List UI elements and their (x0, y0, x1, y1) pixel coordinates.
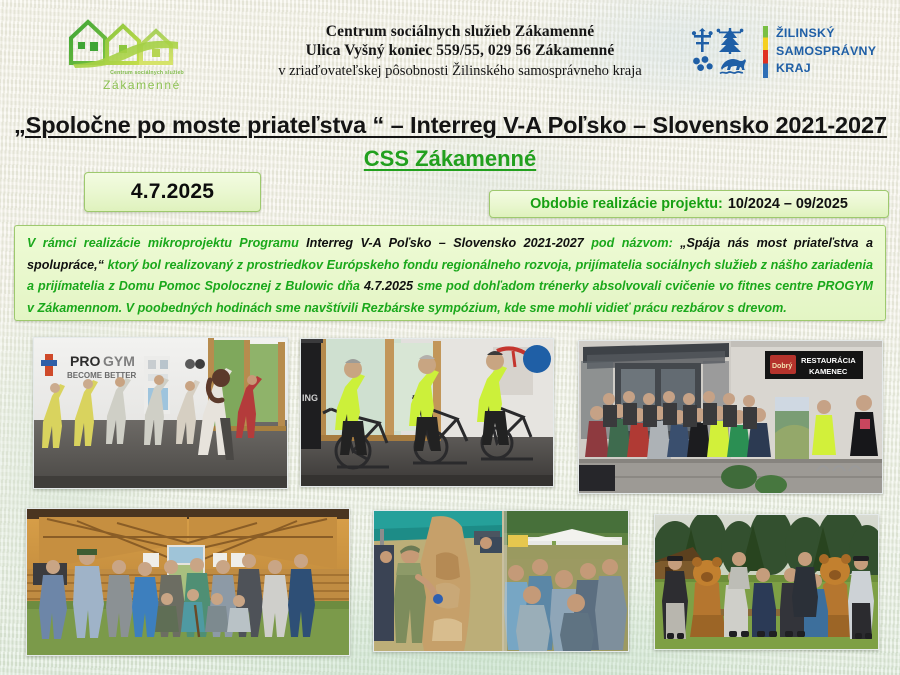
project-period-label: Obdobie realizácie projektu: (530, 196, 723, 212)
organisation-address: Centrum sociálnych služieb Zákamenné Uli… (250, 22, 670, 81)
photo-group-bear-sculptures (654, 514, 879, 650)
desc-event-date: 4.7.2025 (364, 279, 413, 293)
svg-text:RESTAURÁCIA: RESTAURÁCIA (801, 356, 856, 365)
photo-gym-group-exercise-image: PRO GYM BECOME BETTER (34, 338, 287, 488)
photo-exercise-bikes: ING (300, 338, 554, 487)
photo-group-bear-sculptures-image (655, 515, 878, 649)
logo-caption-large: Zákamenné (96, 78, 188, 92)
css-zakamenne-logo: Centrum sociálnych služieb Zákamenné (66, 18, 188, 96)
project-description-panel: V rámci realizácie mikroprojektu Program… (14, 225, 886, 321)
zsk-wordmark: ŽILINSKÝ SAMOSPRÁVNY KRAJ (776, 25, 876, 78)
photo-woodcarver-at-work (373, 510, 629, 652)
org-name: Centrum sociálnych služieb Zákamenné (250, 22, 670, 41)
desc-seg-1: V rámci realizácie mikroprojektu Program… (27, 236, 306, 250)
svg-text:ING: ING (302, 393, 318, 403)
svg-text:Dobrý: Dobrý (772, 363, 792, 370)
zsk-color-bar (763, 26, 768, 78)
svg-text:GYM: GYM (103, 353, 135, 369)
desc-seg-3: pod názvom: (584, 236, 680, 250)
zsk-line-1: ŽILINSKÝ (776, 25, 876, 43)
poster-title: „Spoločne po moste priateľstva “ – Inter… (14, 112, 886, 139)
photo-group-wooden-shelter-image (27, 509, 349, 655)
poster-page: Centrum sociálnych služieb Zákamenné Cen… (0, 0, 900, 675)
svg-text:PRO: PRO (70, 353, 100, 369)
zilinsky-samospravny-kraj-logo: ŽILINSKÝ SAMOSPRÁVNY KRAJ (690, 24, 880, 82)
logo-caption-small: Centrum sociálnych služieb (106, 70, 188, 76)
photo-exercise-bikes-image: ING (301, 339, 553, 486)
zsk-line-2: SAMOSPRÁVNY (776, 43, 876, 61)
photo-group-wooden-shelter (26, 508, 350, 656)
houses-icon (66, 18, 188, 70)
org-founder: v zriaďovateľskej pôsobnosti Žilinského … (250, 61, 670, 81)
zsk-heraldic-emblem-icon (690, 26, 756, 78)
photo-group-restaurant: Dobrý RESTAURÁCIA KAMENEC (578, 340, 883, 494)
photo-woodcarver-at-work-image (374, 511, 628, 651)
desc-programme-name: Interreg V-A Poľsko – Slovensko 2021-202… (306, 236, 584, 250)
project-period-value: 10/2024 – 09/2025 (728, 196, 848, 212)
photo-gym-group-exercise: PRO GYM BECOME BETTER (33, 337, 288, 489)
event-date-badge: 4.7.2025 (84, 172, 261, 212)
org-address: Ulica Vyšný koniec 559/55, 029 56 Zákame… (250, 41, 670, 61)
project-period-badge: Obdobie realizácie projektu: 10/2024 – 0… (489, 190, 889, 218)
photo-group-restaurant-image: Dobrý RESTAURÁCIA KAMENEC (579, 341, 882, 493)
zsk-line-3: KRAJ (776, 60, 876, 78)
poster-header: Centrum sociálnych služieb Zákamenné Cen… (0, 0, 900, 100)
svg-text:KAMENEC: KAMENEC (809, 367, 848, 376)
poster-subtitle: CSS Zákamenné (14, 146, 886, 172)
